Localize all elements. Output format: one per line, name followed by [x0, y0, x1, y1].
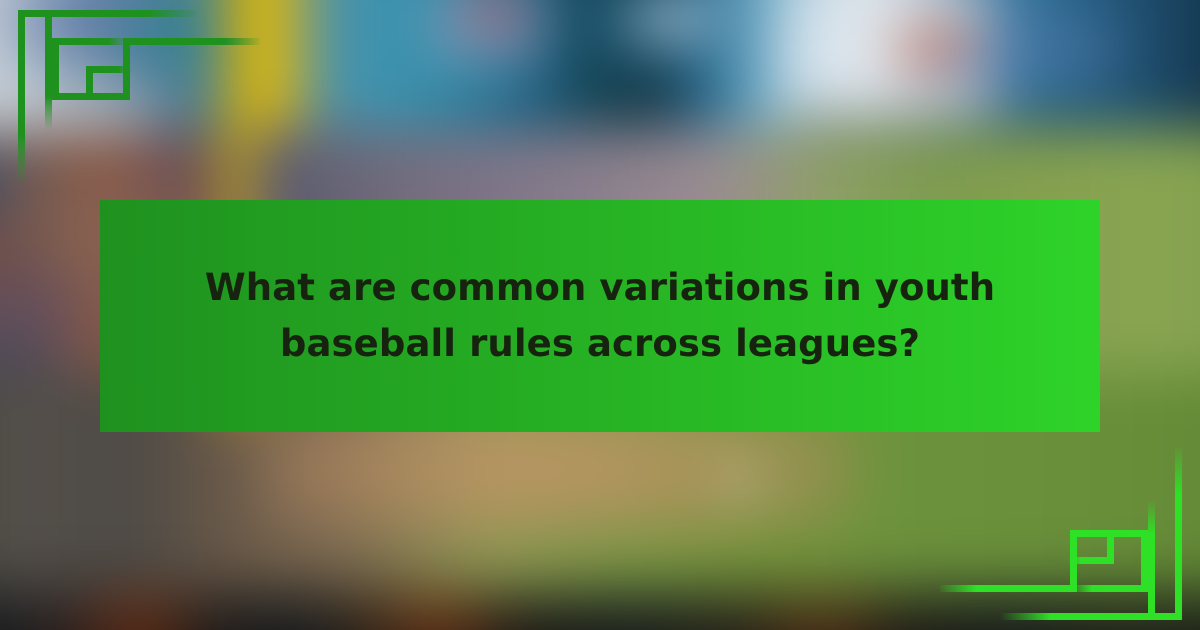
- question-line-1: What are common variations in youth: [205, 266, 995, 309]
- bottom-vignette: [0, 554, 1200, 630]
- question-card: What are common variations in youth base…: [0, 0, 1200, 630]
- question-text: What are common variations in youth base…: [156, 260, 1044, 372]
- sign-blob: [632, 0, 717, 43]
- outfield-wall-signage: [0, 0, 1200, 149]
- sign-blob: [1003, 27, 1120, 69]
- sign-blob: [59, 0, 133, 64]
- sign-blob: [462, 0, 520, 35]
- question-banner: What are common variations in youth base…: [100, 200, 1100, 432]
- baseball-icon: [727, 467, 755, 495]
- sign-blob: [918, 43, 1013, 75]
- sign-blob: [128, 0, 223, 69]
- question-line-2: baseball rules across leagues?: [280, 322, 920, 365]
